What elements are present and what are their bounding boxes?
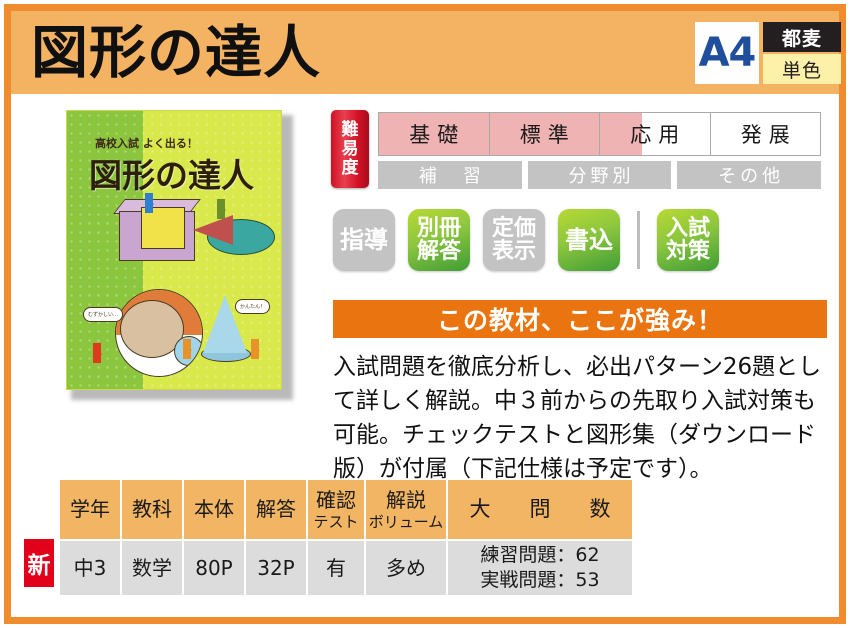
difficulty-level-hyojun-label: 標準	[513, 119, 576, 149]
feature-badge-bessatsu-line1: 別冊	[417, 217, 461, 240]
feature-badge-nyushi-line2: 対策	[666, 240, 710, 263]
difficulty-level-hatten-label: 発展	[734, 119, 797, 149]
difficulty-label: 難 易 度	[331, 110, 369, 188]
difficulty-level-kiso-label: 基礎	[402, 119, 465, 149]
person-figure-red	[93, 343, 101, 363]
person-figure-orange-left	[183, 339, 191, 359]
difficulty-categories: 補 習 分野別 その他	[378, 161, 821, 189]
cell-subject: 数学	[122, 541, 182, 595]
feature-divider	[637, 211, 640, 269]
book-cover: むずかしい… かんたん！ 高校入試 よく出る！ 図形の達人	[66, 110, 288, 395]
feature-badge-shido-line1: 指導	[340, 229, 388, 252]
cell-questions: 練習問題：62 実戦問題：53	[448, 541, 632, 595]
header-volume: 解説 ボリューム	[366, 480, 446, 539]
feature-badges: 指導 別冊 解答 定価 表示 書込 入試 対策	[333, 204, 753, 276]
difficulty-level-hyojun: 標準	[490, 112, 601, 156]
difficulty-label-char-1: 難	[342, 121, 359, 140]
feature-badge-kakikomi: 書込	[558, 209, 620, 271]
color-badge: 単色	[763, 54, 841, 84]
cell-questions-line1: 練習問題：62	[449, 543, 631, 568]
cell-volume: 多め	[366, 541, 446, 595]
category-sonota: その他	[677, 161, 821, 189]
feature-badge-teika-hyoji: 定価 表示	[483, 209, 545, 271]
difficulty-levels: 基礎 標準 応用 発展	[378, 112, 821, 156]
difficulty-level-kiso: 基礎	[378, 112, 490, 156]
feature-badge-teika-line1: 定価	[492, 217, 536, 240]
feature-badge-shido: 指導	[333, 209, 395, 271]
difficulty-level-oyo-label: 応用	[623, 119, 686, 149]
small-cone-icon	[193, 215, 233, 245]
page-title: 図形の達人	[31, 17, 321, 89]
person-figure-green	[217, 199, 225, 219]
header-check-test: 確認 テスト	[308, 480, 364, 539]
cell-grade: 中3	[60, 541, 120, 595]
speech-bubble-right: かんたん！	[235, 299, 270, 314]
header-volume-main: 解説	[386, 488, 426, 512]
publisher-badge: 都麦	[763, 22, 841, 52]
cell-questions-line2: 実戦問題：53	[449, 568, 631, 593]
difficulty-level-oyo: 応用	[600, 112, 711, 156]
cover-artwork: むずかしい… かんたん！ 高校入試 よく出る！ 図形の達人	[66, 110, 282, 390]
category-bunyabetsu: 分野別	[528, 161, 672, 189]
size-badge: A4	[695, 22, 759, 84]
feature-badge-nyushi-taisaku: 入試 対策	[657, 209, 719, 271]
header-grade: 学年	[60, 480, 120, 539]
difficulty-label-char-2: 易	[342, 140, 359, 159]
difficulty-label-char-3: 度	[342, 159, 359, 178]
person-figure-orange-right	[251, 339, 259, 359]
difficulty-level-hatten: 発展	[711, 112, 822, 156]
feature-badge-bessatsu-line2: 解答	[417, 240, 461, 263]
spec-table-header-row: 学年 教科 本体 解答 確認 テスト 解説 ボリューム 大 問 数	[60, 480, 632, 539]
new-badge: 新	[24, 539, 54, 587]
speech-bubble-left: むずかしい…	[83, 307, 123, 322]
feature-badge-teika-line2: 表示	[492, 240, 536, 263]
strength-banner: この教材、ここが強み！	[333, 300, 827, 338]
header-volume-sub: ボリューム	[367, 513, 445, 531]
feature-badge-nyushi-line1: 入試	[666, 217, 710, 240]
table-row: 中3 数学 80P 32P 有 多め 練習問題：62 実戦問題：53	[60, 541, 632, 595]
spec-table: 学年 教科 本体 解答 確認 テスト 解説 ボリューム 大 問 数	[58, 478, 634, 597]
category-hoshu: 補 習	[378, 161, 522, 189]
feature-badge-kakikomi-line1: 書込	[565, 229, 613, 252]
catalog-page: 図形の達人 A4 都麦 単色 むず	[0, 0, 850, 628]
cover-title-text: 図形の達人	[89, 149, 254, 197]
header-answer-pages: 解答	[246, 480, 306, 539]
header-subject: 教科	[122, 480, 182, 539]
cell-check-test: 有	[308, 541, 364, 595]
sphere-icon	[115, 289, 203, 377]
header-body-pages: 本体	[184, 480, 244, 539]
header-questions: 大 問 数	[448, 480, 632, 539]
cell-body-pages: 80P	[184, 541, 244, 595]
header-check-test-main: 確認	[316, 488, 356, 512]
page-header: 図形の達人 A4 都麦 単色	[11, 11, 839, 94]
cell-answer-pages: 32P	[246, 541, 306, 595]
header-check-test-sub: テスト	[309, 513, 363, 531]
strength-description: 入試問題を徹底分析し、必出パターン26題として詳しく解説。中３前からの先取り入試…	[333, 350, 833, 486]
cube-inner-square-icon	[141, 207, 185, 249]
feature-badge-bessatsu-kaito: 別冊 解答	[408, 209, 470, 271]
